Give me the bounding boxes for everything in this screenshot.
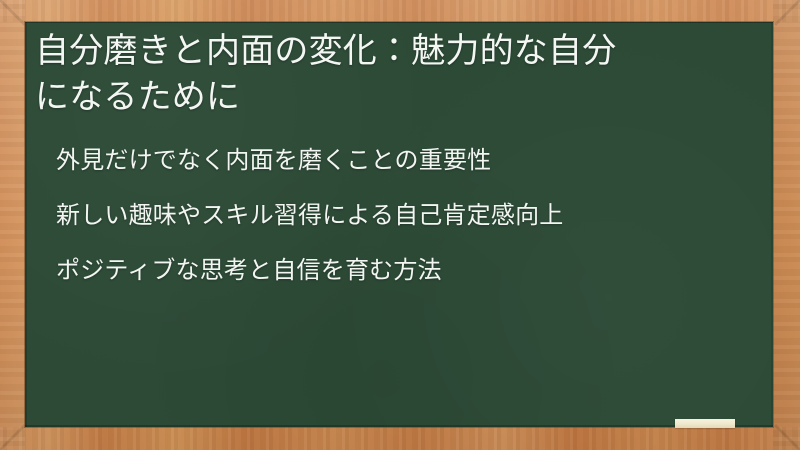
bullet-list: 外見だけでなく内面を磨くことの重要性 新しい趣味やスキル習得による自己肯定感向上… <box>35 146 759 286</box>
frame-rail-top <box>0 0 800 22</box>
chalkboard-slide: 自分磨きと内面の変化：魅力的な自分 になるために 外見だけでなく内面を磨くことの… <box>0 0 800 450</box>
frame-stile-left <box>0 0 25 450</box>
chalkboard-content: 自分磨きと内面の変化：魅力的な自分 になるために 外見だけでなく内面を磨くことの… <box>25 22 773 286</box>
frame-stile-right <box>773 0 800 450</box>
bullet-item-2: 新しい趣味やスキル習得による自己肯定感向上 <box>56 201 759 231</box>
chalk-stick-icon <box>675 419 735 428</box>
slide-title: 自分磨きと内面の変化：魅力的な自分 になるために <box>35 28 759 120</box>
bullet-item-1: 外見だけでなく内面を磨くことの重要性 <box>56 146 759 176</box>
chalkboard-surface: 自分磨きと内面の変化：魅力的な自分 になるために 外見だけでなく内面を磨くことの… <box>25 22 773 427</box>
frame-rail-bottom <box>0 427 800 450</box>
bullet-item-3: ポジティブな思考と自信を育む方法 <box>56 256 759 286</box>
